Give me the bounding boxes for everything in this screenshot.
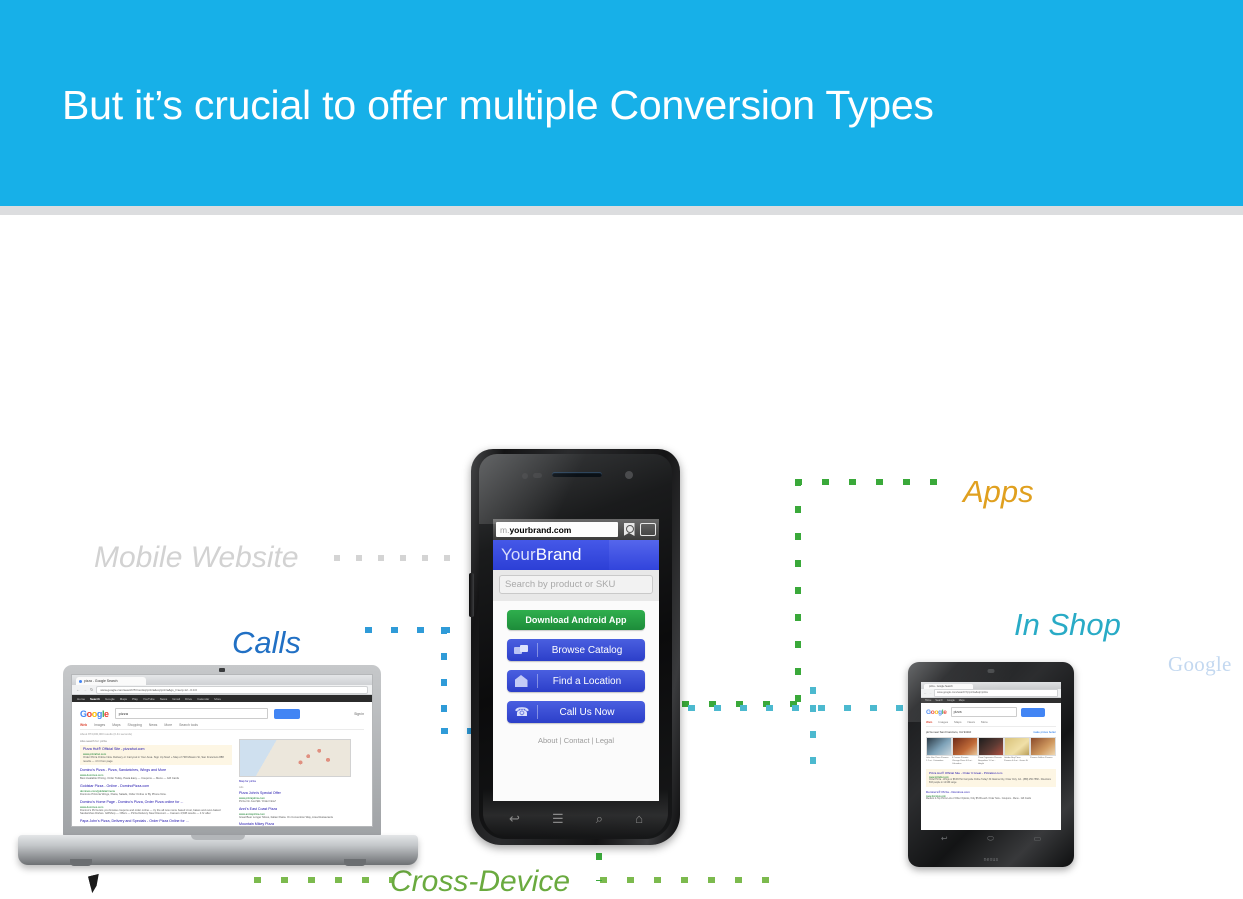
search-result: Goldstar Pizza - Online - DominoPizza.co… [80,784,232,797]
browser-tab[interactable]: pizza - Google Search [76,677,146,685]
local-card[interactable]: Golden Boy Pizza Pizzeria 0.6 mi · Green… [1004,737,1028,766]
tab-images[interactable]: Images [94,723,105,727]
tab-search-tools[interactable]: Search tools [179,723,198,727]
search-result: Domino's® Pizza - Dominos.com www.domino… [926,790,1056,801]
local-card[interactable]: Pizzeria Delfina Pizzeria [1030,737,1054,766]
result-snippet: Dominos Pizzeria Wings, Pasta, Salads, O… [80,793,232,797]
place-thumbnail [1030,737,1056,756]
search-button[interactable] [274,709,300,719]
laptop-hinge-notch [191,835,245,840]
map-link[interactable]: Map for pizza [239,779,349,783]
label-apps: Apps [963,474,1034,510]
place-thumbnail [952,737,978,756]
back-icon[interactable]: ← [76,687,80,692]
ads-label: Ads [239,786,349,789]
result-snippet: Domino's Pizza lets you browse coupons a… [80,809,232,816]
download-android-app-button[interactable]: Download Android App [507,610,645,630]
phone-screen-glare [479,454,672,524]
find-a-location-button[interactable]: Find a Location [507,670,645,692]
url-domain: yourbrand.com [509,525,571,535]
result-snippet: Best Available Pricing. Order Today. Pas… [80,777,232,781]
bookmark-button[interactable] [621,522,637,537]
result-snippet: Order Pizza Online Now. Delivery or Carr… [83,756,229,763]
result-title[interactable]: Papa John's Pizza, Delivery and Specials… [80,819,232,823]
spell-suggestion[interactable]: Also search for: pizza [80,739,232,743]
place-caption: Golden Boy Pizza Pizzeria 0.6 mi · Green… [1004,757,1028,763]
site-footer-links[interactable]: About | Contact | Legal [507,736,645,745]
site-content: Download Android App Browse Catalog Find… [493,601,659,801]
label-in-shop: In Shop [1014,607,1121,643]
connector-cross-device-riser [596,853,602,881]
serp-nav-tabs: Web Images Maps Shopping News More Searc… [80,723,364,730]
location-pin-icon [507,675,535,687]
volume-rocker-button[interactable] [469,573,474,617]
connector-mobile-website [334,555,466,561]
call-us-now-button[interactable]: ☎ Call Us Now [507,701,645,723]
local-card[interactable]: Pizza Orgasmica Pizzeria Neapolitan 1.4 … [978,737,1002,766]
brand-name: YourBrand [501,545,582,565]
sign-in-link[interactable]: Sign in [354,712,364,716]
site-brand-header: YourBrand [493,540,659,570]
ad-snippet: Great Beer Longer Slices, Italian Pasta.… [239,816,349,820]
laptop-lid: pizza - Google Search ← → ↻ www.google.c… [63,665,381,837]
connector-apps-vertical [795,479,801,707]
tabs-button[interactable] [640,522,656,537]
catalog-icon [507,645,535,655]
ad-title[interactable]: Anni's East Coast Pizza [239,807,349,811]
site-search-area: Search by product or SKU [493,570,659,601]
tablet-screen-glare [908,662,1074,722]
back-icon[interactable]: ↩ [941,834,948,843]
android-nav-bar: ↩ ☰ ⌕ ⌂ [493,805,659,831]
label-mobile-website: Mobile Website [94,541,299,575]
ad-snippet: Pizza On Just $11 'Order Now!' [239,800,349,804]
place-thumbnail [1004,737,1030,756]
back-icon[interactable]: ↩ [509,812,520,825]
place-caption: Pizzeria Delfina Pizzeria [1030,757,1054,760]
local-results-bar: pizza near San Francisco, CA 94110 make … [926,730,1056,734]
recents-icon[interactable]: ▭ [1034,834,1042,843]
forward-icon[interactable]: → [83,687,87,692]
connector-apps-horizontal [795,479,955,485]
device-brand-label: nexus [984,857,999,863]
url-prefix: m. [500,525,509,535]
local-query-text: pizza near San Francisco, CA 94110 [926,730,971,734]
brand-part-brand: Brand [536,545,582,564]
serp-header: Google pizza Sign in [80,708,364,719]
connector-calls-vertical [441,627,447,732]
smartphone-device: m.yourbrand.com YourBrand Search by prod… [471,449,680,845]
bookmark-icon [624,523,635,536]
place-thumbnail [926,737,952,756]
local-card[interactable]: Il Casaro Pizzeria Chicago Pizza 0.8 mi … [952,737,976,766]
search-icon[interactable]: ⌕ [596,812,603,825]
result-snippet: Medium 2-Top Pizza Lots of Other Options… [926,798,1056,801]
place-caption: Little Star Pizza Pizzeria 1.2 mi · Divi… [926,757,950,763]
label-calls: Calls [232,625,301,661]
tab-shopping[interactable]: Shopping [128,723,142,727]
find-location-label: Find a Location [535,676,645,687]
tab-more[interactable]: More [164,723,172,727]
sidebar-ad: Anni's East Coast Pizza www.annispizza.c… [239,807,349,820]
google-logo: Google [80,709,109,719]
browser-address-bar: ← → ↻ www.google.com/search?hl=en&q=pizz… [72,685,372,695]
ad-title[interactable]: Pizza Hut® Official Site - Order It Grea… [929,771,1053,775]
place-thumbnail [978,737,1004,756]
results-column: Also search for: pizza Pizza Hut® Offici… [80,739,232,827]
search-result: Papa John's Pizza, Delivery and Specials… [80,819,232,823]
place-caption: Pizza Orgasmica Pizzeria Neapolitan 1.4 … [978,757,1002,766]
url-input[interactable]: www.google.com/search?hl=en&q=pizza&oq=p… [96,686,368,694]
search-input[interactable]: pizza [115,708,268,719]
mobile-url-bar[interactable]: m.yourbrand.com [496,522,618,537]
result-title[interactable]: Pizza Hut® Official Site - pizzahut.com [83,747,229,751]
product-search-input[interactable]: Search by product or SKU [499,575,653,594]
connector-cross-device-right [600,877,776,883]
slide-body: Mobile Website Calls Apps In Shop Cross-… [0,215,1243,699]
brand-part-your: Your [501,545,536,564]
sidebar-ad: Mountain Mikey Pizza www.mountainmikes.c… [239,822,349,827]
phone-screen: m.yourbrand.com YourBrand Search by prod… [493,519,659,801]
result-stats: About 873,000,000 results (0.41 seconds) [80,732,364,736]
result-title[interactable]: Domino's Home Page - Domino's Pizza, Ord… [80,800,232,804]
tabs-icon [640,523,656,536]
local-action-link[interactable]: make prices better [1033,730,1056,734]
tab-news[interactable]: News [149,723,157,727]
result-title[interactable]: Goldstar Pizza - Online - DominoPizza.co… [80,784,232,788]
reload-icon[interactable]: ↻ [90,687,93,692]
tablet-device: pizza - Google Search ← → www.google.com… [908,662,1074,867]
browser-tab-strip: pizza - Google Search [72,675,372,685]
search-result: Domino's Pizza - Pizza, Sandwiches, Wing… [80,768,232,781]
search-result-ad: Pizza Hut® Official Site - Order It Grea… [926,769,1056,787]
home-icon[interactable]: ⌂ [635,812,643,825]
result-title[interactable]: Domino's® Pizza - Dominos.com [926,790,1056,794]
page-title: But it’s crucial to offer multiple Conve… [62,82,934,129]
result-title[interactable]: Domino's Pizza - Pizza, Sandwiches, Wing… [80,768,232,772]
map-thumbnail[interactable] [239,739,351,777]
sidebar-column: Map for pizza Ads Pizza John's Special O… [239,739,349,827]
place-caption: Il Casaro Pizzeria Chicago Pizza 0.8 mi … [952,757,976,766]
header-divider [0,206,1243,215]
browse-catalog-label: Browse Catalog [535,645,645,656]
browse-catalog-button[interactable]: Browse Catalog [507,639,645,661]
tab-web[interactable]: Web [80,723,87,727]
ad-snippet: Order Pizza - Wings or $8.99 Hot Carrysi… [929,779,1053,785]
sidebar-ad: Pizza John's Special Offer www.pizzajohn… [239,791,349,804]
menu-icon[interactable]: ☰ [552,812,564,825]
android-nav-bar: ↩ ⬭ ▭ [921,830,1061,847]
search-result: Domino's Home Page - Domino's Pizza, Ord… [80,800,232,816]
local-results-carousel: Little Star Pizza Pizzeria 1.2 mi · Divi… [926,737,1056,766]
laptop-foot [344,859,366,866]
home-icon[interactable]: ⬭ [987,834,994,844]
search-result-ad: Pizza Hut® Official Site - pizzahut.com … [80,745,232,765]
connector-calls-tail [441,728,473,734]
laptop-screen: pizza - Google Search ← → ↻ www.google.c… [71,674,373,827]
laptop-foot [70,859,92,866]
connector-in-shop-vertical [810,705,816,779]
tab-maps[interactable]: Maps [112,723,120,727]
laptop-device: pizza - Google Search ← → ↻ www.google.c… [18,665,418,880]
call-us-label: Call Us Now [535,707,645,718]
ad-title[interactable]: Mountain Mikey Pizza [239,822,349,826]
ad-title[interactable]: Pizza John's Special Offer [239,791,349,795]
connector-calls-horizontal [365,627,465,633]
google-watermark: Google [1168,652,1232,677]
local-card[interactable]: Little Star Pizza Pizzeria 1.2 mi · Divi… [926,737,950,766]
phone-handset-icon: ☎ [507,706,535,719]
search-results-page: Google pizza Sign in Web Images Maps Sho… [72,702,372,827]
webcam-icon [219,668,225,672]
